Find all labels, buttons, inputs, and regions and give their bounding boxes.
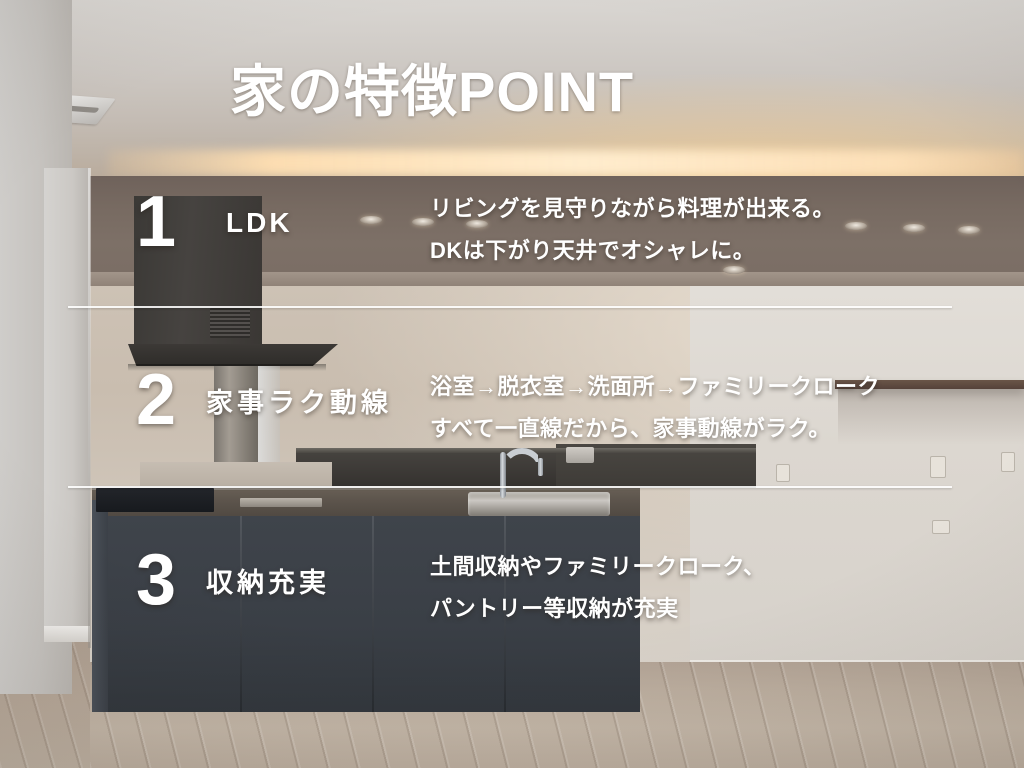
point-description-1: リビングを見守りながら料理が出来る。 DKは下がり天井でオシャレに。 [430, 188, 835, 272]
point-number-3: 3 [136, 544, 176, 616]
description-line: DKは下がり天井でオシャレに。 [430, 230, 835, 272]
divider-line-2 [68, 486, 952, 488]
point-row-3: 3 収納充実 土間収納やファミリークローク、 パントリー等収納が充実 [0, 546, 1024, 666]
point-description-3: 土間収納やファミリークローク、 パントリー等収納が充実 [430, 546, 766, 630]
description-line: パントリー等収納が充実 [430, 588, 766, 630]
text-overlay: 家の特徴POINT 1 LDK リビングを見守りながら料理が出来る。 DKは下が… [0, 0, 1024, 768]
description-line: すべて一直線だから、家事動線がラク。 [430, 408, 880, 450]
description-line: リビングを見守りながら料理が出来る。 [430, 188, 835, 230]
description-line: 浴室→脱衣室→洗面所→ファミリークローク [430, 366, 880, 408]
point-row-1: 1 LDK リビングを見守りながら料理が出来る。 DKは下がり天井でオシャレに。 [0, 188, 1024, 308]
slide-canvas: 家の特徴POINT 1 LDK リビングを見守りながら料理が出来る。 DKは下が… [0, 0, 1024, 768]
point-label-1: LDK [226, 208, 293, 238]
point-label-3: 収納充実 [206, 568, 330, 598]
page-title: 家の特徴POINT [230, 64, 634, 120]
description-line: 土間収納やファミリークローク、 [430, 546, 766, 588]
point-number-1: 1 [136, 186, 176, 258]
point-row-2: 2 家事ラク動線 浴室→脱衣室→洗面所→ファミリークローク すべて一直線だから、… [0, 366, 1024, 486]
point-description-2: 浴室→脱衣室→洗面所→ファミリークローク すべて一直線だから、家事動線がラク。 [430, 366, 880, 450]
point-number-2: 2 [136, 364, 176, 436]
point-label-2: 家事ラク動線 [206, 388, 392, 418]
